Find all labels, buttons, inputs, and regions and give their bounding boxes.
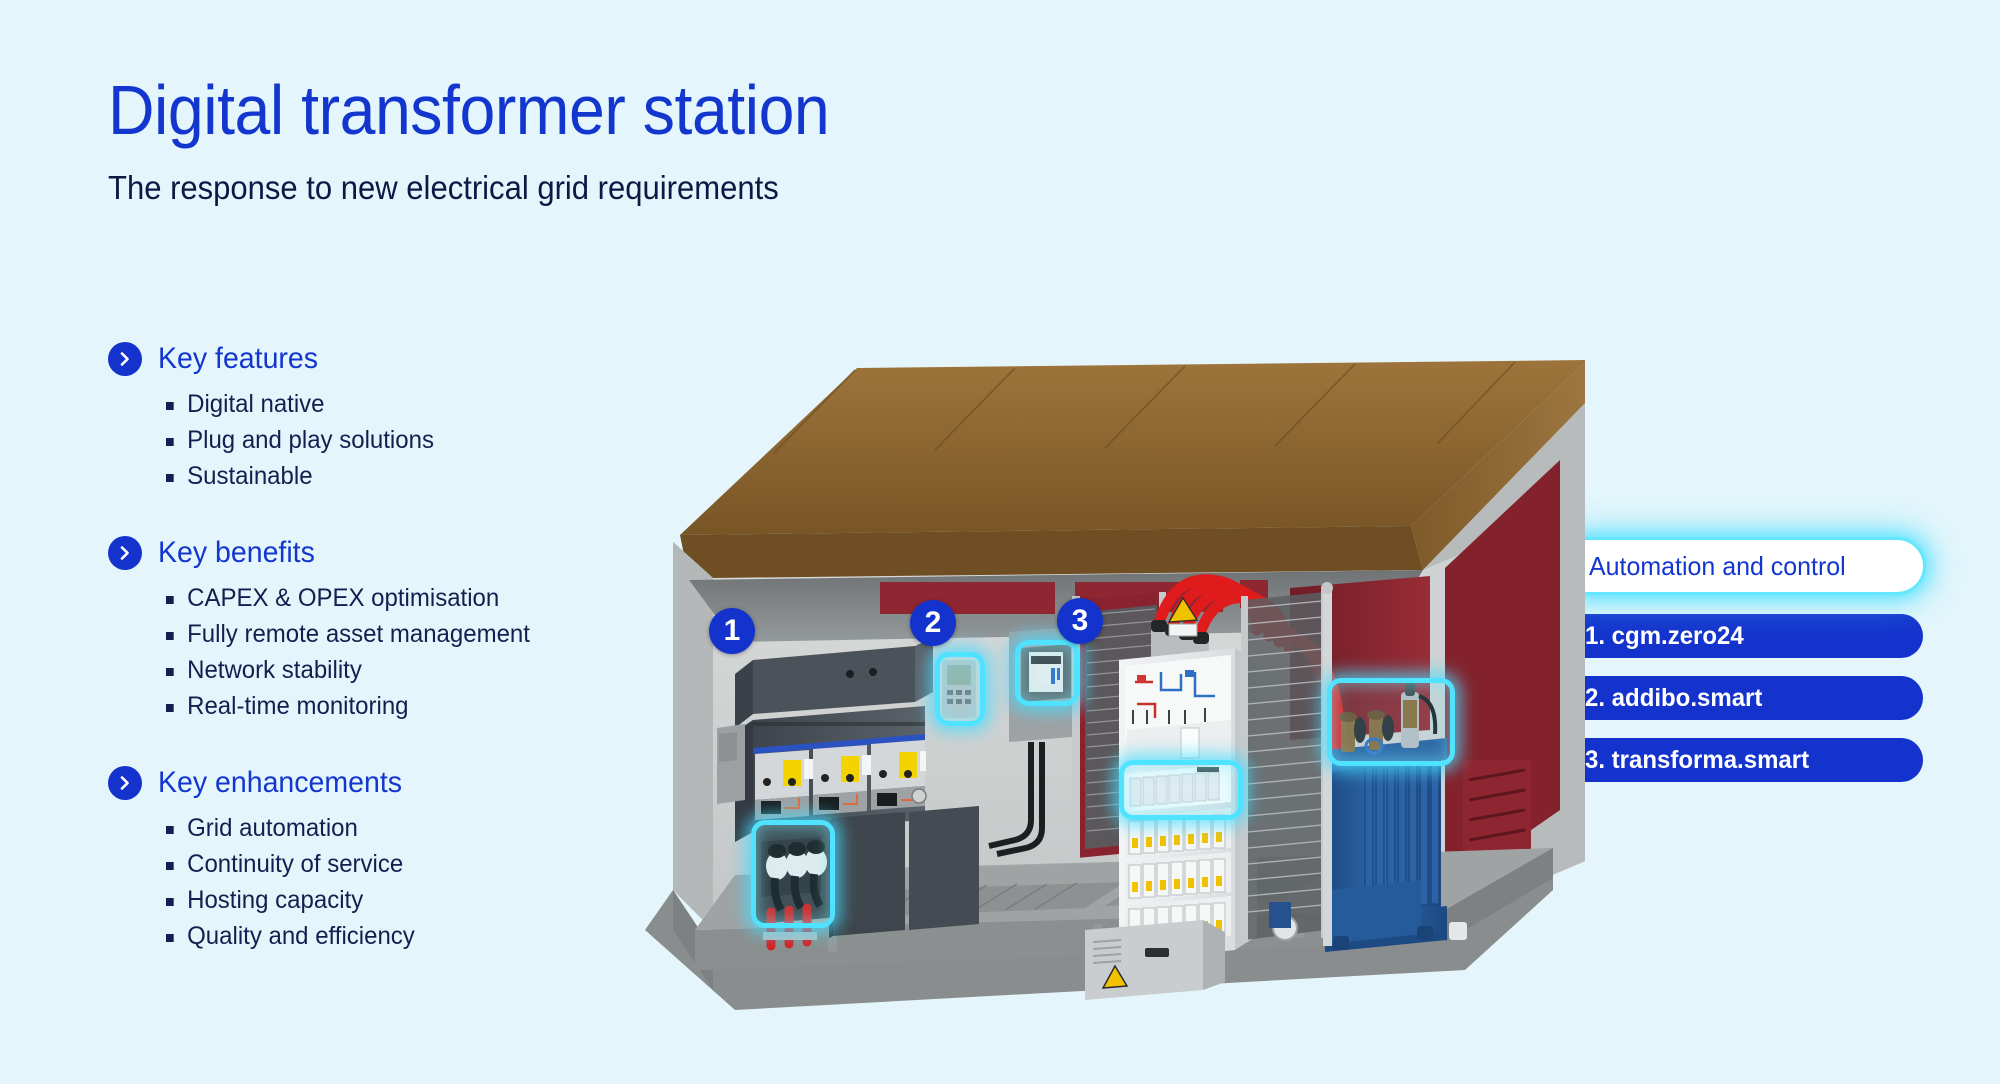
list-item: Network stability [166,652,610,688]
legend-panel: Automation and control 1. cgm.zero24 2. … [1563,540,1923,782]
feature-group-header: Key features [108,342,628,376]
legend-item-label: 2. addibo.smart [1585,684,1762,713]
feature-group-key-features: Key features Digital native Plug and pla… [108,342,628,494]
legend-item-label: 1. cgm.zero24 [1585,622,1744,651]
feature-group-title: Key benefits [158,536,315,570]
header: Digital transformer station The response… [108,70,1308,208]
list-item: Continuity of service [166,846,610,882]
feature-bullet-list: Grid automation Continuity of service Ho… [166,810,628,954]
feature-group-header: Key benefits [108,536,628,570]
feature-bullet-list: Digital native Plug and play solutions S… [166,386,628,494]
lv-breaker-row-highlight [1119,760,1243,820]
list-item: Real-time monitoring [166,688,610,724]
callout-badge-2[interactable]: 2 [910,600,956,646]
feature-group-key-benefits: Key benefits CAPEX & OPEX optimisation F… [108,536,628,724]
feature-group-header: Key enhancements [108,766,628,800]
callout-badge-1[interactable]: 1 [709,608,755,654]
legend-item-3[interactable]: 3. transforma.smart [1563,738,1923,782]
feature-column: Key features Digital native Plug and pla… [108,342,628,954]
mv-cable-termination-highlight [751,820,835,928]
feature-group-key-enhancements: Key enhancements Grid automation Continu… [108,766,628,954]
list-item: Digital native [166,386,610,422]
callout-badge-3[interactable]: 3 [1057,598,1103,644]
list-item: Fully remote asset management [166,616,610,652]
list-item: Hosting capacity [166,882,610,918]
feature-group-title: Key enhancements [158,766,402,800]
legend-item-label: 3. transforma.smart [1585,746,1809,775]
list-item: Plug and play solutions [166,422,610,458]
chevron-right-icon [108,536,142,570]
page-subtitle: The response to new electrical grid requ… [108,168,1236,208]
switchgear-controller-highlight [935,652,985,726]
list-item: Grid automation [166,810,610,846]
transformer-sensor-highlight [1327,678,1455,766]
legend-header-label: Automation and control [1589,551,1846,582]
chevron-right-icon [108,766,142,800]
list-item: Quality and efficiency [166,918,610,954]
list-item: Sustainable [166,458,610,494]
page-title: Digital transformer station [108,70,1212,150]
legend-item-list: 1. cgm.zero24 2. addibo.smart 3. transfo… [1563,614,1923,782]
wall-control-unit-highlight [1015,640,1079,706]
legend-item-2[interactable]: 2. addibo.smart [1563,676,1923,720]
product-image-transformer-station: 1 2 3 [585,330,1585,1030]
list-item: CAPEX & OPEX optimisation [166,580,610,616]
legend-item-1[interactable]: 1. cgm.zero24 [1563,614,1923,658]
legend-header-pill[interactable]: Automation and control [1563,540,1923,592]
feature-group-title: Key features [158,342,318,376]
slide-canvas: Digital transformer station The response… [0,0,2000,1084]
chevron-right-icon [108,342,142,376]
feature-bullet-list: CAPEX & OPEX optimisation Fully remote a… [166,580,628,724]
